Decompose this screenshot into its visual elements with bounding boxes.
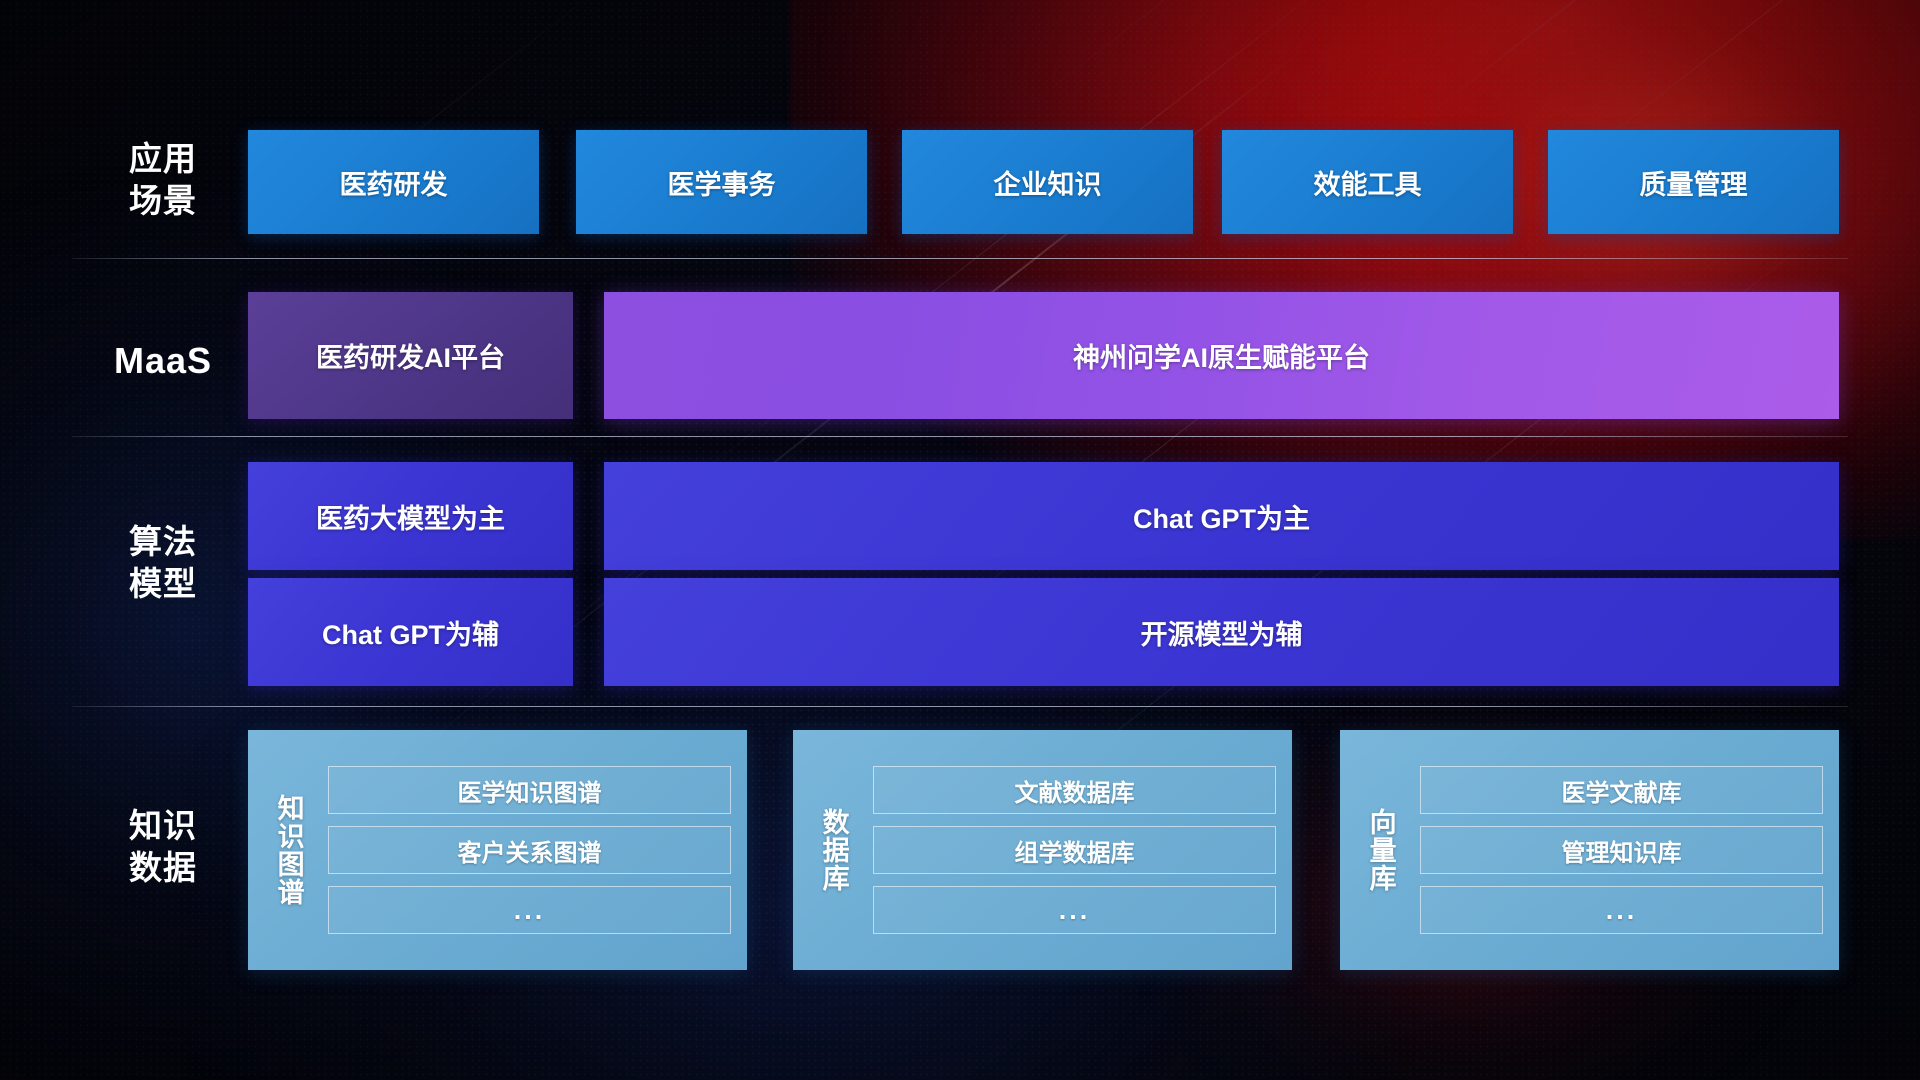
algo-model-box-r1-left[interactable]: 医药大模型为主	[248, 462, 573, 570]
maas-platform-box-left[interactable]: 医药研发AI平台	[248, 292, 573, 419]
knowledge-panel-1-item-2[interactable]: 客户关系图谱	[328, 826, 731, 874]
knowledge-panel-2-label: 数据库	[805, 744, 861, 956]
app-scenario-box-4[interactable]: 效能工具	[1222, 130, 1513, 234]
divider-tier2-tier3	[72, 436, 1848, 437]
knowledge-panel-2-item-3[interactable]: ...	[873, 886, 1276, 934]
tier-label-knowledge-data: 知识数据	[78, 805, 248, 889]
app-scenario-box-5[interactable]: 质量管理	[1548, 130, 1839, 234]
app-scenario-box-2[interactable]: 医学事务	[576, 130, 867, 234]
app-scenario-box-1[interactable]: 医药研发	[248, 130, 539, 234]
app-scenario-box-3[interactable]: 企业知识	[902, 130, 1193, 234]
tier-label-application-scenario: 应用场景	[78, 138, 248, 222]
knowledge-panel-2-item-2[interactable]: 组学数据库	[873, 826, 1276, 874]
knowledge-panel-vector-store[interactable]: 向量库 医学文献库 管理知识库 ...	[1340, 730, 1839, 970]
maas-platform-box-main[interactable]: 神州问学AI原生赋能平台	[604, 292, 1839, 419]
knowledge-panel-1-item-3[interactable]: ...	[328, 886, 731, 934]
architecture-diagram: 应用场景 医药研发 医学事务 企业知识 效能工具 质量管理 MaaS 医药研发A…	[0, 0, 1920, 1080]
tier-label-algorithm-model: 算法模型	[78, 521, 248, 605]
knowledge-panel-1-items: 医学知识图谱 客户关系图谱 ...	[328, 744, 731, 956]
knowledge-panel-3-items: 医学文献库 管理知识库 ...	[1420, 744, 1823, 956]
knowledge-panel-3-item-3[interactable]: ...	[1420, 886, 1823, 934]
knowledge-panel-3-label: 向量库	[1352, 744, 1408, 956]
algo-model-box-r1-right[interactable]: Chat GPT为主	[604, 462, 1839, 570]
knowledge-panel-3-item-1[interactable]: 医学文献库	[1420, 766, 1823, 814]
algo-model-box-r2-left[interactable]: Chat GPT为辅	[248, 578, 573, 686]
knowledge-panel-1-item-1[interactable]: 医学知识图谱	[328, 766, 731, 814]
knowledge-panel-knowledge-graph[interactable]: 知识图谱 医学知识图谱 客户关系图谱 ...	[248, 730, 747, 970]
divider-tier1-tier2	[72, 258, 1848, 259]
knowledge-panel-2-items: 文献数据库 组学数据库 ...	[873, 744, 1276, 956]
divider-tier3-tier4	[72, 706, 1848, 707]
algo-model-box-r2-right[interactable]: 开源模型为辅	[604, 578, 1839, 686]
tier-label-maas: MaaS	[78, 338, 248, 384]
knowledge-panel-3-item-2[interactable]: 管理知识库	[1420, 826, 1823, 874]
knowledge-panel-2-item-1[interactable]: 文献数据库	[873, 766, 1276, 814]
knowledge-panel-database[interactable]: 数据库 文献数据库 组学数据库 ...	[793, 730, 1292, 970]
knowledge-panel-1-label: 知识图谱	[260, 744, 316, 956]
